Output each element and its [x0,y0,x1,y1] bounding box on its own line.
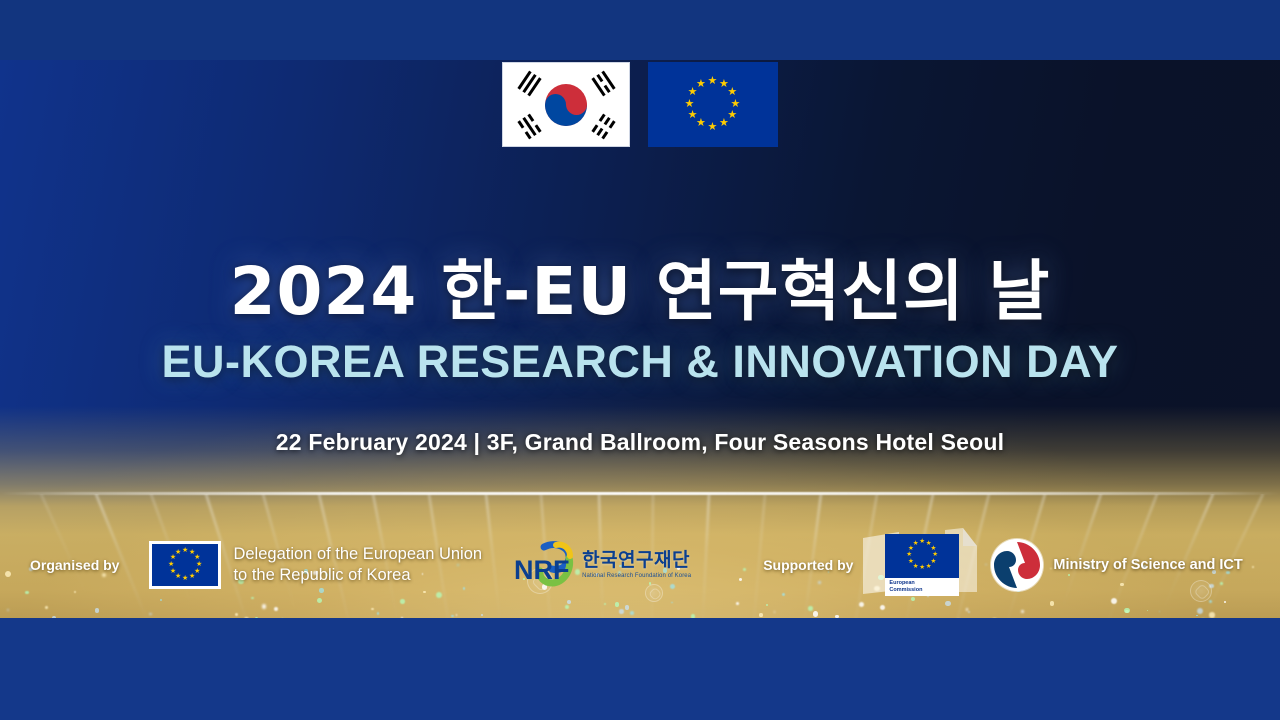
ec-line1: European [889,580,959,587]
trigram-gam [591,71,615,97]
eu-delegation-flag-icon [149,541,221,589]
ec-caption: European Commission [885,578,959,596]
korea-government-emblem-icon [991,539,1043,591]
banner-page: 2024 한-EU 연구혁신의 날 EU-KOREA RESEARCH & IN… [0,0,1280,720]
ec-logo-wrap: European Commission [885,534,959,596]
european-commission-logo: European Commission [885,534,959,596]
trigram-gon [591,114,615,140]
page-title-english: EU-KOREA RESEARCH & INNOVATION DAY [0,336,1280,388]
trigram-ri [517,114,541,140]
flag-row [0,62,1280,147]
nrf-logo: NRF 한국연구재단 National Research Foundation … [514,539,691,591]
taegeuk-lobe-b [566,94,587,115]
top-letterbox-bar [0,0,1280,60]
organiser-group: Organised by Delegation of the European … [30,541,482,589]
nrf-mark-icon: NRF [514,539,576,591]
sponsor-strip: Organised by Delegation of the European … [0,530,1280,600]
nrf-korean-name: 한국연구재단 [582,551,691,570]
ec-flag-icon [885,534,959,578]
taegeuk-lobe-a [545,94,566,115]
eu-flag-icon [648,62,778,147]
event-date-venue: 22 February 2024 | 3F, Grand Ballroom, F… [0,429,1280,456]
taegeuk-circle [545,84,587,126]
ec-line2: Commission [889,587,959,594]
nrf-wordmark: 한국연구재단 National Research Foundation of K… [582,551,691,579]
svg-text:NRF: NRF [514,555,570,585]
page-title-korean: 2024 한-EU 연구혁신의 날 [0,238,1280,334]
eu-delegation-line1: Delegation of the European Union [233,544,482,565]
korea-flag-icon [502,62,630,147]
supported-by-label: Supported by [763,557,853,573]
supporter-group: Supported by European Commission [763,534,959,596]
ministry-logo: Ministry of Science and ICT [991,539,1242,591]
nrf-english-name: National Research Foundation of Korea [582,573,691,579]
eu-delegation-line2: to the Republic of Korea [233,565,482,586]
ministry-name: Ministry of Science and ICT [1053,557,1242,573]
horizon-light-line [0,492,1280,495]
eu-delegation-name: Delegation of the European Union to the … [233,544,482,586]
organised-by-label: Organised by [30,557,119,573]
bottom-letterbox-bar [0,618,1280,720]
trigram-geon [517,71,541,97]
